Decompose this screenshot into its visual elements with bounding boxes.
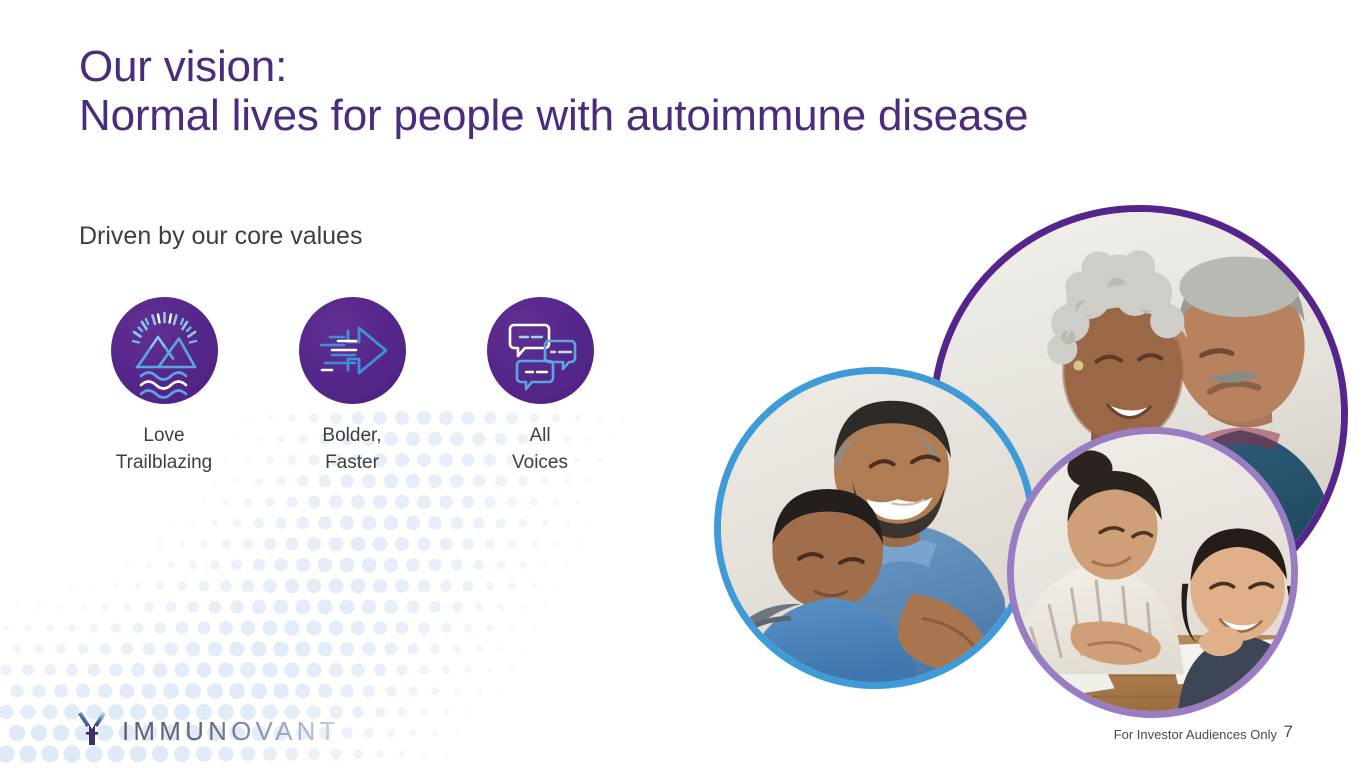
value-item-bolder-faster: Bolder, Faster bbox=[267, 297, 437, 476]
mountains-sunrise-waves-icon bbox=[111, 297, 218, 404]
value-label: All Voices bbox=[455, 422, 625, 476]
slide-canvas: Our vision: Normal lives for people with… bbox=[0, 0, 1365, 768]
core-values-list: Love Trailblazing bbox=[79, 297, 639, 487]
page-number: 7 bbox=[1284, 721, 1293, 743]
value-item-all-voices: All Voices bbox=[455, 297, 625, 476]
mother-daughter-photo bbox=[1007, 427, 1298, 718]
subtitle: Driven by our core values bbox=[79, 220, 362, 252]
footer-disclaimer: For Investor Audiences Only bbox=[1114, 726, 1277, 743]
speech-bubbles-icon bbox=[487, 297, 594, 404]
logo-wordmark: IMMUNOVANT bbox=[122, 716, 340, 747]
title-line-1: Our vision: bbox=[79, 42, 1139, 91]
value-label: Love Trailblazing bbox=[79, 422, 249, 476]
page-title: Our vision: Normal lives for people with… bbox=[79, 42, 1139, 140]
photo-cluster bbox=[700, 168, 1365, 713]
antibody-y-icon bbox=[72, 709, 112, 754]
fast-arrow-icon bbox=[299, 297, 406, 404]
value-label: Bolder, Faster bbox=[267, 422, 437, 476]
value-item-love-trailblazing: Love Trailblazing bbox=[79, 297, 249, 476]
title-line-2: Normal lives for people with autoimmune … bbox=[79, 91, 1139, 140]
immunovant-logo: IMMUNOVANT bbox=[72, 708, 340, 754]
father-son-photo bbox=[714, 367, 1036, 689]
